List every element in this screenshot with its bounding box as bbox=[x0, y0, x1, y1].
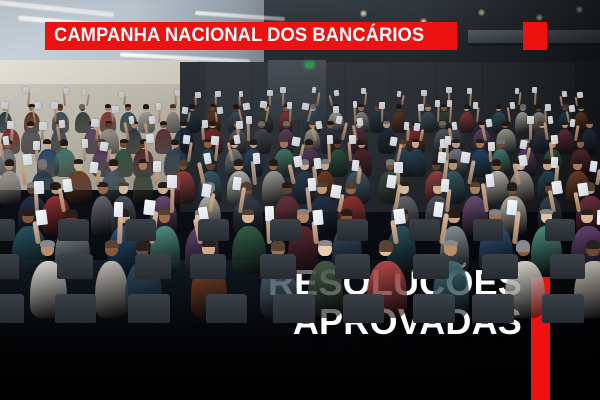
attendee-hair bbox=[136, 240, 150, 251]
auditorium-chair bbox=[343, 294, 384, 323]
attendee-hair bbox=[269, 159, 278, 166]
auditorium-chair bbox=[273, 294, 314, 323]
voting-card bbox=[577, 182, 588, 196]
attendee-hair bbox=[5, 159, 14, 166]
voting-card bbox=[313, 210, 325, 225]
headline-text: CAMPANHA NACIONAL DOS BANCÁRIOS bbox=[54, 26, 424, 46]
attendee-hair bbox=[452, 139, 460, 143]
attendee-hair bbox=[576, 139, 584, 142]
attendee-hair bbox=[43, 139, 51, 144]
raised-arm bbox=[282, 92, 284, 106]
voting-card bbox=[260, 101, 268, 109]
voting-card bbox=[544, 104, 550, 111]
auditorium-chair bbox=[128, 294, 169, 323]
voting-card bbox=[64, 88, 69, 95]
voting-card bbox=[361, 87, 367, 94]
raised-arm bbox=[529, 122, 532, 140]
auditorium-chair bbox=[482, 254, 518, 279]
auditorium-chair bbox=[335, 254, 371, 279]
auditorium-chair bbox=[58, 219, 89, 241]
voting-card bbox=[451, 122, 457, 131]
voting-card bbox=[551, 157, 559, 168]
voting-card bbox=[114, 202, 123, 217]
attendee-hair bbox=[379, 240, 393, 252]
voting-card bbox=[441, 179, 450, 192]
attendee-hair bbox=[109, 159, 118, 165]
voting-card bbox=[515, 87, 520, 94]
headline-accent-square bbox=[523, 22, 547, 50]
attendee-hair bbox=[562, 104, 568, 107]
attendee-hair bbox=[346, 182, 356, 189]
auditorium-chair bbox=[206, 294, 247, 323]
voting-card bbox=[418, 104, 425, 112]
attendee-hair bbox=[497, 139, 505, 144]
attendee-hair bbox=[305, 139, 313, 145]
voting-card bbox=[148, 116, 155, 125]
attendee-hair bbox=[180, 121, 187, 126]
raised-arm bbox=[353, 106, 356, 122]
attendee-hair bbox=[489, 209, 501, 215]
raised-arm bbox=[238, 96, 241, 106]
voting-card bbox=[112, 106, 119, 114]
auditorium-chair bbox=[337, 219, 368, 241]
voting-card bbox=[280, 87, 286, 93]
voting-card bbox=[58, 119, 65, 128]
auditorium-chair bbox=[270, 219, 301, 241]
voting-card bbox=[23, 154, 33, 166]
attendee-hair bbox=[334, 139, 342, 144]
auditorium-chair bbox=[550, 254, 586, 279]
voting-card bbox=[195, 91, 201, 98]
auditorium-chair bbox=[0, 294, 24, 323]
attendee-hair bbox=[209, 121, 216, 127]
attendee-hair bbox=[425, 104, 431, 107]
attendee-hair bbox=[60, 139, 68, 146]
attendee-hair bbox=[280, 139, 288, 142]
attendee-hair bbox=[443, 240, 457, 246]
voting-card bbox=[175, 90, 180, 97]
attendee-hair bbox=[476, 139, 484, 143]
voting-card bbox=[167, 175, 177, 188]
voting-card bbox=[531, 87, 536, 93]
auditorium-chair bbox=[409, 219, 440, 241]
voting-card bbox=[91, 119, 99, 128]
auditorium-chair bbox=[135, 254, 171, 279]
attendee-hair bbox=[383, 121, 390, 125]
auditorium-chair bbox=[0, 254, 19, 279]
campaign-poster: CAMPANHA NACIONAL DOS BANCÁRIOS RESOLUÇÕ… bbox=[0, 0, 600, 400]
auditorium-chair bbox=[542, 294, 583, 323]
auditorium-chair bbox=[0, 219, 15, 241]
voting-card bbox=[577, 92, 583, 99]
attendee-hair bbox=[202, 240, 216, 247]
voting-card bbox=[153, 161, 161, 172]
voting-card bbox=[327, 134, 333, 144]
voting-card bbox=[287, 102, 292, 109]
auditorium-chair bbox=[198, 219, 229, 241]
attendee-hair bbox=[470, 182, 480, 187]
attendee-hair bbox=[578, 104, 584, 109]
voting-card bbox=[301, 102, 309, 110]
voting-card bbox=[291, 136, 300, 147]
voting-card bbox=[445, 136, 452, 146]
voting-card bbox=[203, 153, 212, 165]
attendee-hair bbox=[318, 240, 332, 246]
voting-card bbox=[527, 116, 534, 124]
voting-card bbox=[246, 116, 253, 124]
auditorium-chair bbox=[413, 254, 449, 279]
voting-card bbox=[51, 102, 58, 109]
voting-card bbox=[82, 139, 88, 148]
attendee bbox=[95, 261, 128, 318]
voting-card bbox=[447, 100, 453, 107]
voting-card bbox=[421, 89, 427, 95]
auditorium-chair bbox=[57, 254, 93, 279]
voting-card bbox=[466, 88, 471, 95]
voting-card bbox=[394, 162, 403, 173]
attendee-hair bbox=[448, 209, 460, 218]
voting-card bbox=[569, 119, 575, 128]
voting-card bbox=[33, 141, 41, 150]
voting-card bbox=[519, 139, 528, 149]
voting-card bbox=[446, 87, 452, 93]
auditorium-chair bbox=[190, 254, 226, 279]
auditorium-chair bbox=[125, 219, 156, 241]
raised-arm bbox=[41, 128, 44, 140]
raised-arm bbox=[534, 91, 537, 105]
voting-card bbox=[202, 120, 208, 128]
voting-card bbox=[1, 102, 9, 110]
attendee bbox=[0, 171, 21, 204]
voting-card bbox=[39, 122, 47, 130]
attendee-hair bbox=[160, 121, 167, 126]
attendee-hair bbox=[327, 121, 334, 125]
voting-card bbox=[81, 89, 86, 96]
attendee-hair bbox=[57, 104, 63, 108]
voting-card bbox=[182, 134, 190, 144]
attendee bbox=[556, 129, 573, 154]
attendee-hair bbox=[79, 104, 85, 109]
voting-card bbox=[267, 90, 273, 96]
attendee-hair bbox=[74, 159, 83, 164]
attendee-hair bbox=[171, 139, 179, 145]
headline-banner: CAMPANHA NACIONAL DOS BANCÁRIOS bbox=[45, 22, 457, 50]
attendee-hair bbox=[97, 182, 107, 187]
attendee bbox=[459, 112, 474, 133]
voting-card bbox=[215, 90, 221, 96]
voting-card bbox=[62, 178, 73, 192]
voting-card bbox=[155, 103, 161, 110]
voting-card bbox=[379, 102, 385, 109]
voting-card bbox=[210, 136, 219, 146]
voting-card bbox=[252, 152, 259, 163]
attendee-hair bbox=[341, 209, 353, 217]
attendee-hair bbox=[492, 159, 501, 166]
attendee-hair bbox=[581, 209, 593, 215]
attendee-hair bbox=[189, 104, 195, 109]
attendee-hair bbox=[105, 104, 111, 108]
attendee-hair bbox=[573, 159, 582, 163]
voting-card bbox=[143, 200, 155, 216]
voting-card bbox=[35, 209, 48, 225]
attendee-hair bbox=[496, 104, 502, 109]
attendee-hair bbox=[234, 159, 243, 165]
attendee-hair bbox=[143, 104, 149, 109]
voting-card bbox=[507, 200, 518, 215]
attendee-hair bbox=[439, 121, 446, 125]
attendee-hair bbox=[535, 104, 541, 109]
voting-card bbox=[145, 133, 154, 143]
attendee-hair bbox=[125, 104, 131, 106]
auditorium-chair bbox=[472, 294, 513, 323]
voting-card bbox=[551, 135, 559, 145]
attendee-hair bbox=[28, 104, 34, 107]
raised-arm bbox=[269, 95, 271, 106]
attendee-hair bbox=[158, 209, 170, 215]
attendee-hair bbox=[317, 182, 327, 187]
voting-card bbox=[217, 106, 223, 114]
voting-card bbox=[90, 161, 99, 173]
attendee-hair bbox=[516, 240, 530, 252]
attendee-hair bbox=[40, 240, 54, 247]
raised-arm bbox=[170, 184, 175, 212]
attendee-hair bbox=[65, 209, 77, 218]
voting-card bbox=[7, 120, 15, 129]
attendee-hair bbox=[242, 209, 254, 215]
attendee-hair bbox=[502, 121, 509, 126]
attendee-hair bbox=[520, 104, 526, 109]
voting-card bbox=[236, 120, 244, 128]
voting-card bbox=[488, 142, 495, 152]
attendee-hair bbox=[448, 159, 457, 163]
voting-card bbox=[561, 91, 567, 98]
attendee-hair bbox=[118, 182, 128, 186]
auditorium-chair bbox=[473, 219, 504, 241]
voting-card bbox=[238, 91, 242, 97]
attendee-hair bbox=[586, 121, 593, 124]
auditorium-chair bbox=[260, 254, 296, 279]
voting-card bbox=[33, 181, 43, 194]
voting-card bbox=[485, 118, 492, 127]
voting-card bbox=[119, 91, 125, 98]
attendee-hair bbox=[271, 240, 285, 251]
voting-card bbox=[348, 135, 356, 145]
voting-card bbox=[333, 106, 339, 113]
voting-card bbox=[393, 208, 405, 224]
attendee-hair bbox=[38, 159, 47, 166]
voting-card bbox=[547, 116, 553, 125]
attendee-hair bbox=[250, 139, 258, 145]
voting-card bbox=[315, 120, 323, 129]
auditorium-chair bbox=[545, 219, 576, 241]
voting-card bbox=[313, 157, 321, 168]
attendee bbox=[406, 149, 426, 177]
voting-card bbox=[307, 178, 316, 191]
voting-card bbox=[435, 100, 441, 107]
auditorium-chair bbox=[413, 294, 454, 323]
attendee-hair bbox=[586, 240, 600, 249]
voting-card bbox=[404, 122, 409, 130]
attendee-hair bbox=[22, 209, 34, 217]
voting-card bbox=[353, 101, 357, 108]
raised-arm bbox=[117, 213, 123, 244]
attendee-hair bbox=[357, 139, 365, 145]
voting-card bbox=[485, 173, 494, 186]
attendee-hair bbox=[105, 121, 112, 124]
auditorium-chair bbox=[55, 294, 96, 323]
